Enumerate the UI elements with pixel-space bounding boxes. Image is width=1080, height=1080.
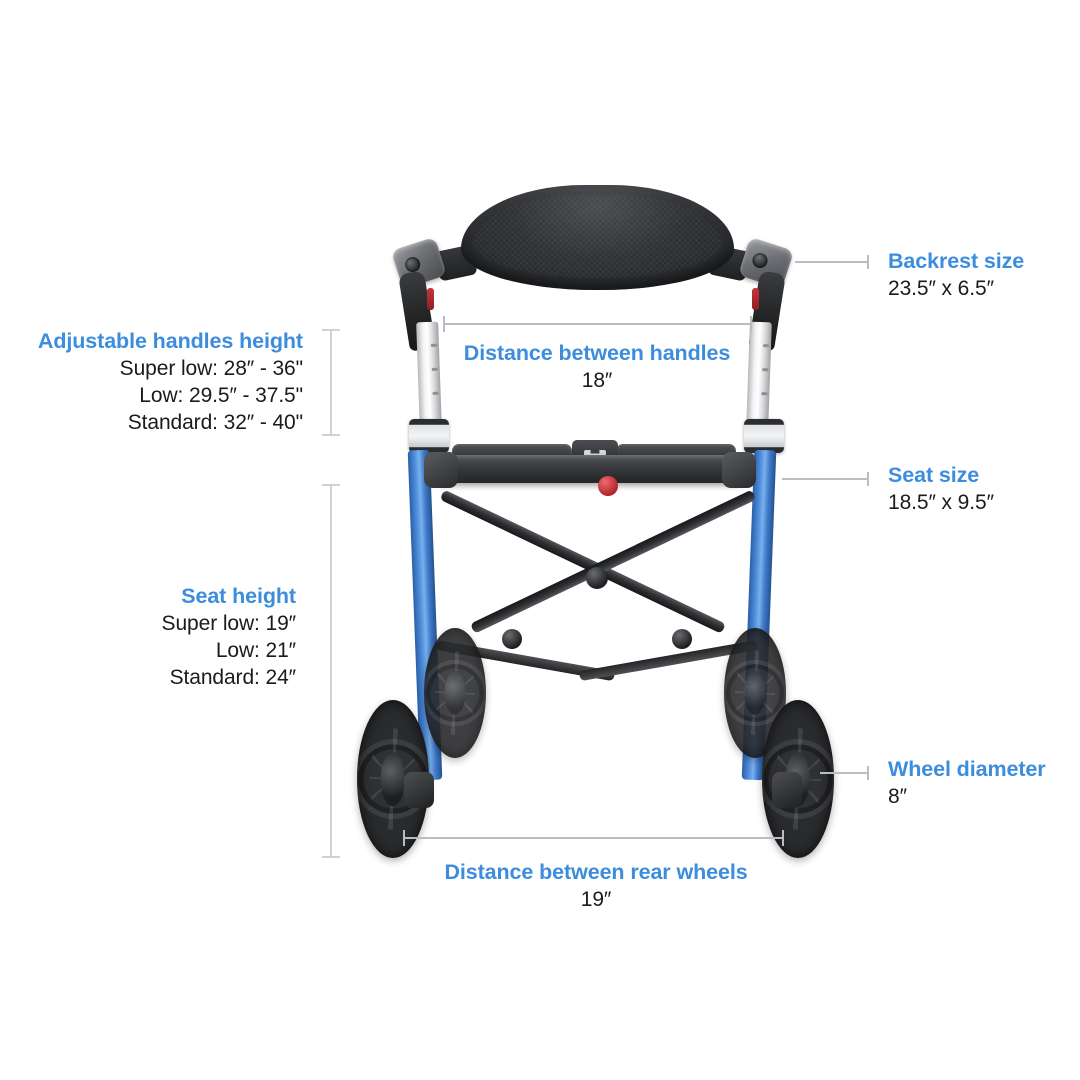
front-wheel-left xyxy=(424,628,486,758)
cross-brace-a xyxy=(440,490,726,634)
height-notch xyxy=(432,368,438,371)
rollator-walker-illustration xyxy=(0,0,1080,1080)
clamp-bolt-right xyxy=(751,251,770,270)
wheel-fork-right xyxy=(772,772,802,808)
wheel-hub xyxy=(744,671,765,715)
wheel-hub xyxy=(444,671,465,715)
height-notch xyxy=(433,392,439,395)
distance-rear-wheels-value: 19″ xyxy=(443,886,749,913)
handles-height-low: Low: 29.5″ - 37.5" xyxy=(0,382,303,409)
wheel-diameter-value: 8″ xyxy=(888,783,1046,810)
distance-rear-wheels-title: Distance between rear wheels xyxy=(443,859,749,886)
seat-height-title: Seat height xyxy=(0,583,296,610)
seat-end-cap-left xyxy=(424,452,458,488)
strut-joint-right xyxy=(672,629,692,649)
height-notch xyxy=(762,368,768,371)
annotation-wheel-diameter: Wheel diameter 8″ xyxy=(888,756,1046,810)
annotation-distance-handles: Distance between handles 18″ xyxy=(447,340,747,394)
leader-line-backrest xyxy=(795,261,869,263)
dimension-bracket-seat-height xyxy=(330,484,332,858)
dimension-bracket-handles-height xyxy=(330,329,332,436)
distance-handles-title: Distance between handles xyxy=(447,340,747,367)
handles-height-title: Adjustable handles height xyxy=(0,328,303,355)
seat-height-super-low: Super low: 19″ xyxy=(0,610,296,637)
height-notch xyxy=(763,344,769,347)
annotation-distance-rear-wheels: Distance between rear wheels 19″ xyxy=(443,859,749,913)
cross-brace-pivot xyxy=(586,567,608,589)
telescoping-tube-right xyxy=(746,322,772,431)
telescoping-tube-left xyxy=(416,322,442,431)
spec-diagram: Backrest size 23.5″ x 6.5″ Adjustable ha… xyxy=(0,0,1080,1080)
height-notch xyxy=(431,344,437,347)
seat-size-title: Seat size xyxy=(888,462,994,489)
red-fold-knob xyxy=(598,476,618,496)
height-adjust-collar-right xyxy=(744,419,784,453)
annotation-handles-height: Adjustable handles height Super low: 28″… xyxy=(0,328,303,436)
annotation-seat-height: Seat height Super low: 19″ Low: 21″ Stan… xyxy=(0,583,296,691)
backrest-size-title: Backrest size xyxy=(888,248,1024,275)
red-release-button-left xyxy=(427,288,434,310)
backrest-size-value: 23.5″ x 6.5″ xyxy=(888,275,1024,302)
seat-frame-bar xyxy=(432,455,750,483)
height-notch xyxy=(761,392,767,395)
wheel-fork-left xyxy=(404,772,434,808)
wheel-diameter-title: Wheel diameter xyxy=(888,756,1046,783)
seat-height-standard: Standard: 24″ xyxy=(0,664,296,691)
dimension-line-distance-handles xyxy=(443,323,752,325)
seat-end-cap-right xyxy=(722,452,756,488)
backrest-mesh-texture xyxy=(473,195,722,278)
seat-size-value: 18.5″ x 9.5″ xyxy=(888,489,994,516)
backrest-pad xyxy=(461,185,734,290)
red-release-button-right xyxy=(752,288,759,310)
annotation-backrest-size: Backrest size 23.5″ x 6.5″ xyxy=(888,248,1024,302)
height-adjust-collar-left xyxy=(409,419,449,453)
handles-height-standard: Standard: 32″ - 40" xyxy=(0,409,303,436)
handles-height-super-low: Super low: 28″ - 36" xyxy=(0,355,303,382)
leader-line-wheel-diameter xyxy=(820,772,869,774)
seat-height-low: Low: 21″ xyxy=(0,637,296,664)
dimension-line-rear-wheels xyxy=(403,837,784,839)
annotation-seat-size: Seat size 18.5″ x 9.5″ xyxy=(888,462,994,516)
strut-joint-left xyxy=(502,629,522,649)
distance-handles-value: 18″ xyxy=(447,367,747,394)
leader-line-seat-size xyxy=(782,478,869,480)
cross-brace-b xyxy=(470,490,756,634)
